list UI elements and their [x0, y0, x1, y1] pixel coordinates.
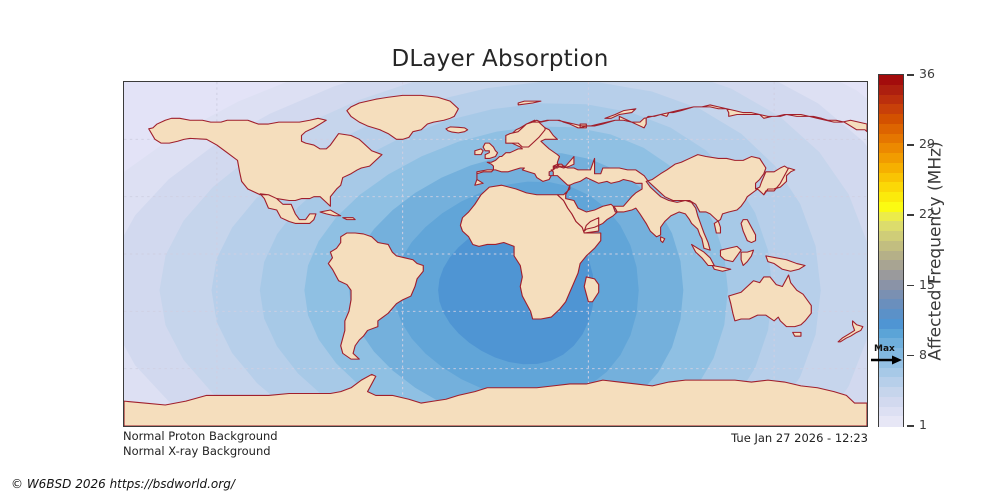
tick-dash [907, 285, 914, 287]
colorbar-axis-label: Affected Frequency (MHz) [924, 74, 948, 427]
xray-background-text: Normal X-ray Background [123, 444, 278, 459]
tick-dash [907, 74, 914, 76]
arrow-right-icon [870, 354, 904, 366]
copyright-symbol: © [11, 477, 23, 491]
landmass-tasmania [793, 332, 801, 336]
tick-dash [907, 214, 914, 216]
max-marker: Max [870, 345, 910, 367]
world-map[interactable] [123, 81, 868, 427]
timestamp-text: Tue Jan 27 2026 - 12:23 [731, 431, 868, 445]
colorbar[interactable]: 1815222936 [878, 74, 904, 427]
tick-dash [907, 144, 914, 146]
map-canvas [124, 82, 867, 426]
screenshot-root: DLayer Absorption 1815222936 Affected Fr… [0, 0, 1000, 500]
colorbar-segment [879, 416, 903, 426]
colorbar-axis-label-text: Affected Frequency (MHz) [926, 141, 946, 360]
background-annotations: Normal Proton Background Normal X-ray Ba… [123, 429, 278, 459]
tick-dash [907, 425, 914, 427]
copyright-text: © W6BSD 2026 https://bsdworld.org/ [11, 477, 235, 491]
proton-background-text: Normal Proton Background [123, 429, 278, 444]
copyright-body: W6BSD 2026 https://bsdworld.org/ [23, 477, 235, 491]
page-title: DLayer Absorption [0, 46, 1000, 72]
colorbar-gradient [878, 74, 904, 427]
max-marker-label: Max [874, 344, 895, 354]
